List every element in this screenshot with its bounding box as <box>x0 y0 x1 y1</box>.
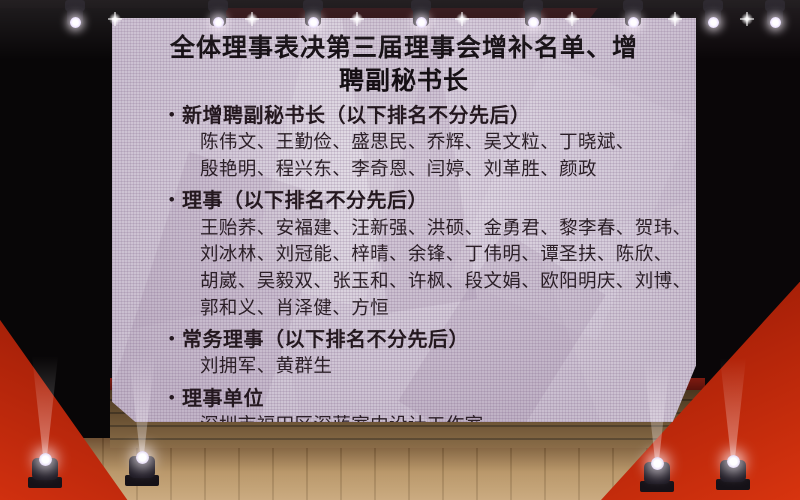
name-line: 深圳市福田区深蓝室内设计工作室 <box>200 413 670 422</box>
section-directors: • 理事（以下排名不分先后） 王贻荞、安福建、汪新强、洪硕、金勇君、黎李春、贺玮… <box>138 188 670 322</box>
star-light-icon <box>740 12 754 26</box>
moving-head-light-icon <box>300 0 326 30</box>
section-heading: • 新增聘副秘书长（以下排名不分先后） <box>162 103 670 130</box>
section-heading: • 常务理事（以下排名不分先后） <box>162 327 670 354</box>
bullet-icon: • <box>162 103 182 128</box>
section-heading: • 理事单位 <box>162 386 670 413</box>
star-light-icon <box>245 12 259 26</box>
slide-title-line-1: 全体理事表决第三届理事会增补名单、增 <box>138 32 670 65</box>
moving-head-light-icon <box>762 0 788 30</box>
bullet-icon: • <box>162 188 182 213</box>
moving-head-light-icon <box>62 0 88 30</box>
name-line: 陈伟文、王勤俭、盛思民、乔辉、吴文粒、丁晓斌、 <box>200 130 670 157</box>
section-heading-text: 理事单位 <box>182 386 264 413</box>
slide-content: 全体理事表决第三届理事会增补名单、增 聘副秘书长 • 新增聘副秘书长（以下排名不… <box>112 18 696 422</box>
slide-title: 全体理事表决第三届理事会增补名单、增 聘副秘书长 <box>138 32 670 98</box>
lighting-truss <box>0 0 800 8</box>
star-light-icon <box>455 12 469 26</box>
moving-head-light-icon <box>620 0 646 30</box>
floor-light-icon <box>640 452 674 492</box>
bullet-icon: • <box>162 327 182 352</box>
section-name-list: 陈伟文、王勤俭、盛思民、乔辉、吴文粒、丁晓斌、 殷艳明、程兴东、李奇恩、闫婷、刘… <box>200 130 670 183</box>
moving-head-light-icon <box>520 0 546 30</box>
section-heading: • 理事（以下排名不分先后） <box>162 188 670 215</box>
section-name-list: 刘拥军、黄群生 <box>200 354 670 381</box>
moving-head-light-icon <box>700 0 726 30</box>
floor-light-icon <box>125 446 159 486</box>
stage-photo: 全体理事表决第三届理事会增补名单、增 聘副秘书长 • 新增聘副秘书长（以下排名不… <box>0 0 800 500</box>
section-name-list: 深圳市福田区深蓝室内设计工作室 <box>200 413 670 422</box>
bullet-icon: • <box>162 386 182 411</box>
name-line: 刘冰林、刘冠能、梓晴、余锋、丁伟明、谭圣扶、陈欣、 <box>200 242 670 269</box>
section-vice-secretary: • 新增聘副秘书长（以下排名不分先后） 陈伟文、王勤俭、盛思民、乔辉、吴文粒、丁… <box>138 103 670 183</box>
moving-head-light-icon <box>205 0 231 30</box>
name-line: 殷艳明、程兴东、李奇恩、闫婷、刘革胜、颜政 <box>200 157 670 184</box>
name-line: 胡崴、吴毅双、张玉和、许枫、段文娟、欧阳明庆、刘博、 <box>200 269 670 296</box>
star-light-icon <box>565 12 579 26</box>
section-heading-text: 常务理事（以下排名不分先后） <box>182 327 469 354</box>
moving-head-light-icon <box>408 0 434 30</box>
section-standing-directors: • 常务理事（以下排名不分先后） 刘拥军、黄群生 <box>138 327 670 381</box>
star-light-icon <box>108 12 122 26</box>
name-line: 郭和义、肖泽健、方恒 <box>200 296 670 323</box>
name-line: 王贻荞、安福建、汪新强、洪硕、金勇君、黎李春、贺玮、 <box>200 216 670 243</box>
section-name-list: 王贻荞、安福建、汪新强、洪硕、金勇君、黎李春、贺玮、 刘冰林、刘冠能、梓晴、余锋… <box>200 216 670 323</box>
section-heading-text: 新增聘副秘书长（以下排名不分先后） <box>182 103 531 130</box>
section-heading-text: 理事（以下排名不分先后） <box>182 188 428 215</box>
slide-title-line-2: 聘副秘书长 <box>138 65 670 98</box>
star-light-icon <box>350 12 364 26</box>
name-line: 刘拥军、黄群生 <box>200 354 670 381</box>
star-light-icon <box>668 12 682 26</box>
led-screen: 全体理事表决第三届理事会增补名单、增 聘副秘书长 • 新增聘副秘书长（以下排名不… <box>112 18 696 422</box>
floor-light-icon <box>716 450 750 490</box>
section-member-unit: • 理事单位 深圳市福田区深蓝室内设计工作室 <box>138 386 670 422</box>
floor-light-icon <box>28 448 62 488</box>
